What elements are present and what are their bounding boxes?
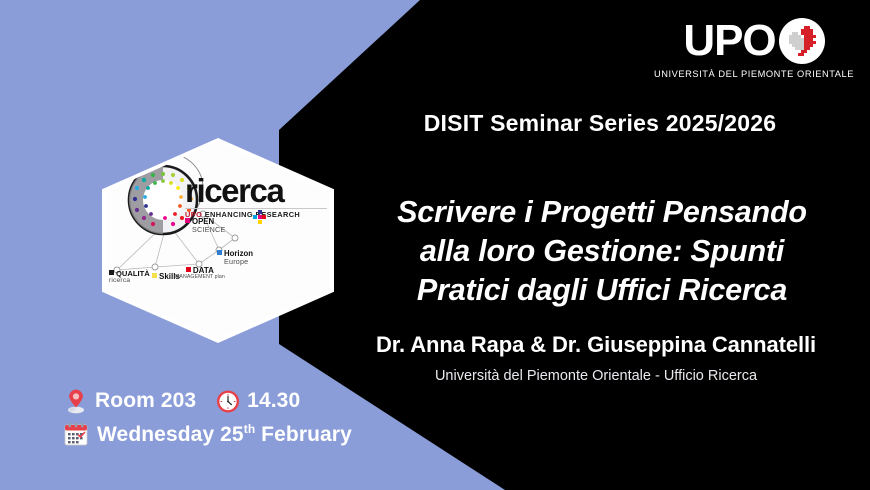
node-swatch-open-science	[185, 218, 190, 223]
hexagon-inner: ricerca UPO ENHANCING RESEARCH QUALITÀ r…	[107, 142, 329, 339]
clock-icon	[214, 387, 242, 415]
location-pin-icon	[62, 387, 90, 415]
room-label: Room 203	[95, 389, 196, 413]
date-day: Wednesday 25	[97, 423, 244, 446]
upo-letters: UPO	[683, 20, 775, 62]
title-line-3: Pratici dagli Uffici Ricerca	[338, 271, 866, 310]
upo-logo: UPO	[654, 18, 854, 79]
seminar-series-heading: DISIT Seminar Series 2025/2026	[330, 110, 870, 137]
speaker-names: Dr. Anna Rapa & Dr. Giuseppina Cannatell…	[322, 332, 870, 358]
seminar-poster: ricerca UPO ENHANCING RESEARCH QUALITÀ r…	[0, 0, 870, 490]
date-month: February	[255, 423, 352, 446]
time-label: 14.30	[247, 389, 300, 413]
title-line-1: Scrivere i Progetti Pensando	[338, 193, 866, 232]
node-swatch-skills	[152, 273, 157, 278]
speaker-affiliation: Università del Piemonte Orientale - Uffi…	[322, 368, 870, 384]
node-swatch-data	[186, 267, 191, 272]
event-details: Room 203 14.30	[62, 387, 352, 453]
event-location-row: Room 203 14.30	[62, 387, 352, 415]
node-label-data-management: DATA MANAGEMENT plan	[175, 267, 225, 280]
ricerca-hexagon-badge: ricerca UPO ENHANCING RESEARCH QUALITÀ r…	[102, 138, 334, 343]
date-ordinal: th	[244, 422, 256, 436]
upo-subtitle: UNIVERSITÀ DEL PIEMONTE ORIENTALE	[654, 69, 854, 79]
plus-squares-icon	[253, 210, 266, 225]
node-swatch-horizon	[217, 250, 222, 255]
piedmont-region-map-icon	[779, 18, 825, 64]
page-title: Scrivere i Progetti Pensando alla loro G…	[338, 193, 866, 310]
calendar-icon	[62, 420, 90, 448]
title-line-2: alla loro Gestione: Spunti	[338, 232, 866, 271]
node-label-qualita: QUALITÀ ricerca	[109, 270, 150, 284]
date-label: Wednesday 25th February	[97, 422, 352, 447]
node-swatch-qualita	[109, 270, 114, 275]
event-date-row: Wednesday 25th February	[62, 420, 352, 448]
node-label-horizon-europe: Horizon Europe	[217, 250, 253, 265]
node-label-open-science: OPEN SCIENCE	[185, 218, 225, 233]
